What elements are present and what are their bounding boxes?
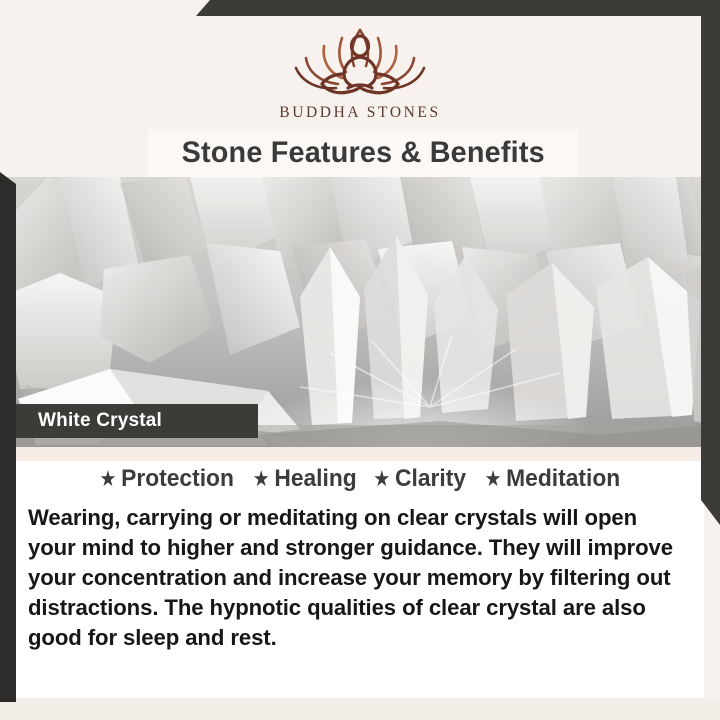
- benefit-label: Meditation: [506, 465, 620, 493]
- stone-name-label: White Crystal: [38, 410, 162, 432]
- stone-info-card: BUDDHA STONES Stone Features & Benefits …: [0, 0, 720, 720]
- benefit-item: ★ Clarity: [374, 465, 467, 493]
- lotus-meditation-figure-icon: [280, 22, 440, 100]
- benefit-item: ★ Protection: [100, 465, 234, 493]
- frame-left-accent: [0, 172, 16, 702]
- panel-accent-strip: [16, 447, 704, 461]
- star-icon: ★: [484, 468, 501, 490]
- benefits-row: ★ Protection ★ Healing ★ Clarity ★ Medit…: [16, 465, 704, 493]
- brand-logo: BUDDHA STONES: [0, 22, 720, 122]
- star-icon: ★: [100, 468, 117, 490]
- brand-name: BUDDHA STONES: [279, 104, 440, 122]
- star-icon: ★: [374, 468, 391, 490]
- page-title: Stone Features & Benefits: [181, 136, 544, 170]
- title-banner: Stone Features & Benefits: [148, 129, 578, 177]
- benefit-label: Healing: [274, 465, 356, 493]
- star-icon: ★: [253, 468, 270, 490]
- benefit-label: Clarity: [395, 465, 466, 493]
- frame-right-accent: [701, 0, 720, 525]
- benefit-item: ★ Healing: [253, 465, 357, 493]
- benefit-item: ★ Meditation: [484, 465, 620, 493]
- description-panel: ★ Protection ★ Healing ★ Clarity ★ Medit…: [16, 447, 704, 698]
- stone-name-badge: White Crystal: [16, 404, 258, 438]
- frame-bottom-accent: [0, 698, 720, 720]
- benefit-label: Protection: [122, 465, 235, 493]
- description-text: Wearing, carrying or meditating on clear…: [28, 503, 687, 653]
